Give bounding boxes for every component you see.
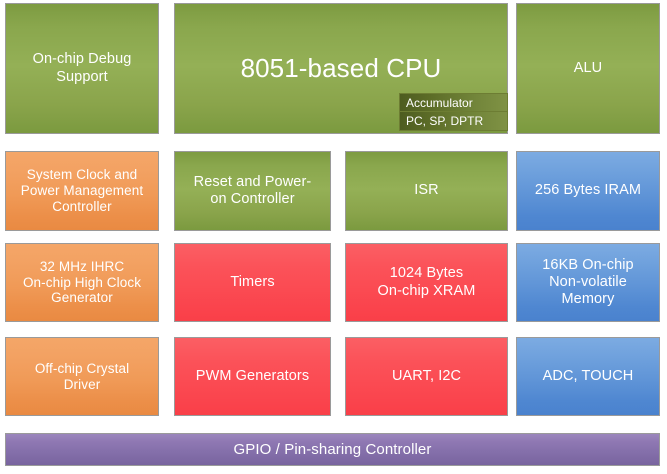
block-label-system-clock-and-power-management-controller: System Clock and Power Management Contro… <box>17 167 147 215</box>
block-label-8051-based-cpu: 8051-based CPU <box>237 53 446 84</box>
block-adc-touch: ADC, TOUCH <box>516 337 660 416</box>
block-label-adc-touch: ADC, TOUCH <box>539 368 638 385</box>
block-16kb-on-chip-non-volatile-memory: 16KB On-chip Non-volatile Memory <box>516 243 660 322</box>
block-off-chip-crystal-driver: Off-chip Crystal Driver <box>5 337 159 416</box>
block-reset-and-power-on-controller: Reset and Power- on Controller <box>174 151 331 231</box>
block-256-bytes-iram: 256 Bytes IRAM <box>516 151 660 231</box>
block-label-32mhz-ihrc-on-chip-high-clock-generator: 32 MHz IHRC On-chip High Clock Generator <box>19 259 145 307</box>
block-isr: ISR <box>345 151 508 231</box>
block-label-256-bytes-iram: 256 Bytes IRAM <box>531 182 645 199</box>
cpu-register-pc-sp-dptr: PC, SP, DPTR <box>399 112 508 131</box>
block-label-uart-i2c: UART, I2C <box>388 368 465 385</box>
block-gpio-pin-sharing-controller: GPIO / Pin-sharing Controller <box>5 433 660 466</box>
block-1024-bytes-on-chip-xram: 1024 Bytes On-chip XRAM <box>345 243 508 322</box>
block-label-gpio-pin-sharing-controller: GPIO / Pin-sharing Controller <box>230 441 436 459</box>
block-32mhz-ihrc-on-chip-high-clock-generator: 32 MHz IHRC On-chip High Clock Generator <box>5 243 159 322</box>
block-label-alu: ALU <box>570 60 607 77</box>
block-on-chip-debug-support: On-chip Debug Support <box>5 3 159 134</box>
block-timers: Timers <box>174 243 331 322</box>
block-pwm-generators: PWM Generators <box>174 337 331 416</box>
block-uart-i2c: UART, I2C <box>345 337 508 416</box>
block-system-clock-and-power-management-controller: System Clock and Power Management Contro… <box>5 151 159 231</box>
block-label-reset-and-power-on-controller: Reset and Power- on Controller <box>190 174 316 208</box>
block-label-pwm-generators: PWM Generators <box>192 368 313 385</box>
block-label-16kb-on-chip-non-volatile-memory: 16KB On-chip Non-volatile Memory <box>538 257 637 308</box>
mcu-block-diagram: On-chip Debug Support8051-based CPUALUSy… <box>0 0 667 474</box>
block-label-on-chip-debug-support: On-chip Debug Support <box>29 51 136 85</box>
cpu-register-accumulator: Accumulator <box>399 93 508 112</box>
block-label-off-chip-crystal-driver: Off-chip Crystal Driver <box>31 361 133 393</box>
block-label-1024-bytes-on-chip-xram: 1024 Bytes On-chip XRAM <box>374 265 480 299</box>
block-label-timers: Timers <box>226 274 278 291</box>
block-label-isr: ISR <box>410 182 442 199</box>
cpu-register-group: AccumulatorPC, SP, DPTR <box>399 93 508 131</box>
block-alu: ALU <box>516 3 660 134</box>
